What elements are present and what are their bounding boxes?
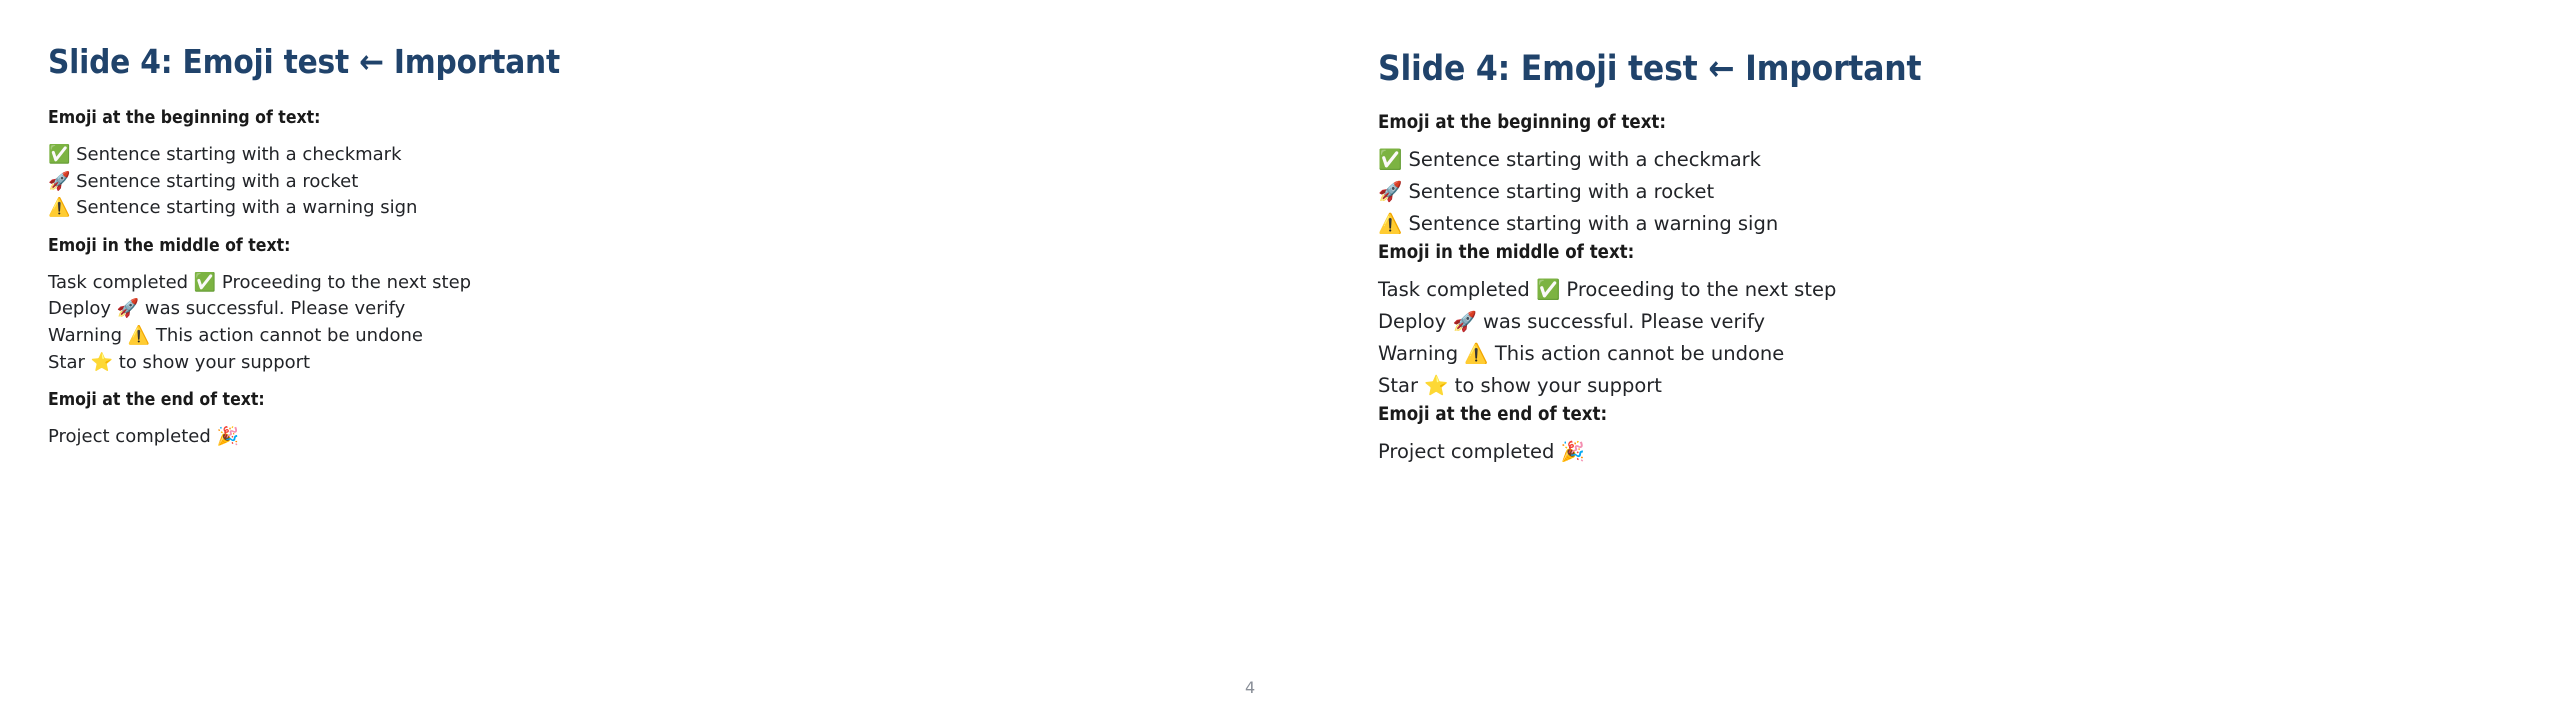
right-section-heading-beginning: Emoji at the beginning of text: (1378, 110, 2538, 135)
right-line-star: Star ⭐ to show your support (1378, 370, 2538, 402)
left-line-warning-mid: Warning ⚠️ This action cannot be undone (48, 323, 1228, 350)
left-line-rocket-start: 🚀 Sentence starting with a rocket (48, 169, 1228, 196)
spacer (48, 130, 1228, 142)
left-line-warning-start: ⚠️ Sentence starting with a warning sign (48, 195, 1228, 222)
right-line-project-completed: Project completed 🎉 (1378, 436, 2538, 468)
left-line-checkmark-start: ✅ Sentence starting with a checkmark (48, 142, 1228, 169)
right-line-checkmark-start: ✅ Sentence starting with a checkmark (1378, 144, 2538, 176)
left-slide-pane: Slide 4: Emoji test ← Important Emoji at… (0, 0, 1280, 720)
left-slide-title: Slide 4: Emoji test ← Important (48, 40, 1228, 84)
left-line-star: Star ⭐ to show your support (48, 350, 1228, 377)
left-section-heading-beginning: Emoji at the beginning of text: (48, 106, 1228, 130)
right-line-rocket-start: 🚀 Sentence starting with a rocket (1378, 176, 2538, 208)
right-slide-title: Slide 4: Emoji test ← Important (1378, 46, 2538, 92)
right-line-deploy: Deploy 🚀 was successful. Please verify (1378, 306, 2538, 338)
spacer (1378, 135, 2538, 144)
spacer (48, 84, 1228, 106)
left-line-deploy: Deploy 🚀 was successful. Please verify (48, 296, 1228, 323)
right-section-heading-end: Emoji at the end of text: (1378, 402, 2538, 427)
page-number: 4 (1245, 678, 1255, 698)
right-section-heading-middle: Emoji in the middle of text: (1378, 240, 2538, 265)
left-line-project-completed: Project completed 🎉 (48, 424, 1228, 451)
spacer (1378, 92, 2538, 110)
spacer (1378, 265, 2538, 274)
right-slide-content: Slide 4: Emoji test ← Important Emoji at… (1378, 46, 2538, 468)
right-line-warning-mid: Warning ⚠️ This action cannot be undone (1378, 338, 2538, 370)
spacer (1378, 427, 2538, 436)
spacer (48, 258, 1228, 270)
right-slide-pane: Slide 4: Emoji test ← Important Emoji at… (1281, 0, 2561, 720)
spacer (48, 222, 1228, 234)
left-section-heading-middle: Emoji in the middle of text: (48, 234, 1228, 258)
spacer (48, 376, 1228, 388)
right-line-warning-start: ⚠️ Sentence starting with a warning sign (1378, 208, 2538, 240)
left-section-heading-end: Emoji at the end of text: (48, 388, 1228, 412)
left-line-task-completed: Task completed ✅ Proceeding to the next … (48, 270, 1228, 297)
left-slide-content: Slide 4: Emoji test ← Important Emoji at… (48, 40, 1228, 451)
slide-comparison-view: Slide 4: Emoji test ← Important Emoji at… (0, 0, 2561, 720)
spacer (48, 412, 1228, 424)
right-line-task-completed: Task completed ✅ Proceeding to the next … (1378, 274, 2538, 306)
